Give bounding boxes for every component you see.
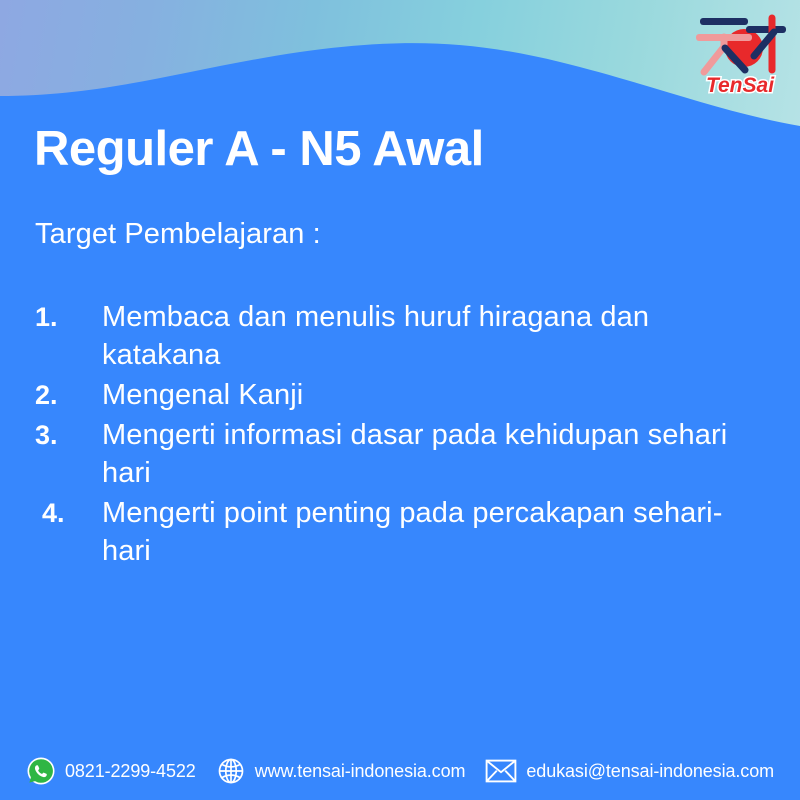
- contact-value: 0821-2299-4522: [65, 761, 196, 782]
- list-item-text: Mengerti informasi dasar pada kehidupan …: [102, 416, 750, 492]
- list-item-text: Mengenal Kanji: [102, 376, 750, 414]
- contact-email[interactable]: edukasi@tensai-indonesia.com: [485, 758, 774, 784]
- globe-icon: [216, 756, 246, 786]
- list-item-text: Mengerti point penting pada percakapan s…: [102, 494, 750, 570]
- poster-canvas: TenSai Reguler A - N5 Awal Target Pembel…: [0, 0, 800, 800]
- page-subtitle: Target Pembelajaran :: [35, 218, 321, 251]
- contact-value: www.tensai-indonesia.com: [255, 761, 466, 782]
- whatsapp-icon: [26, 756, 56, 786]
- logo-wordmark: TenSai: [706, 74, 775, 97]
- learning-goals-list: 1. Membaca dan menulis huruf hiragana da…: [30, 298, 750, 572]
- list-item-text: Membaca dan menulis huruf hiragana dan k…: [102, 298, 750, 374]
- contact-website[interactable]: www.tensai-indonesia.com: [216, 756, 466, 786]
- envelope-icon: [485, 758, 517, 784]
- contact-value: edukasi@tensai-indonesia.com: [526, 761, 774, 782]
- list-item-number: 4.: [30, 494, 102, 532]
- footer-contact-bar: 0821-2299-4522 www.tensai-indonesia.com: [0, 742, 800, 800]
- list-item: 2. Mengenal Kanji: [30, 376, 750, 414]
- page-title: Reguler A - N5 Awal: [34, 124, 484, 175]
- tensai-logo: TenSai: [688, 4, 792, 102]
- contact-whatsapp[interactable]: 0821-2299-4522: [26, 756, 196, 786]
- list-item: 4. Mengerti point penting pada percakapa…: [30, 494, 750, 570]
- list-item: 1. Membaca dan menulis huruf hiragana da…: [30, 298, 750, 374]
- list-item-number: 3.: [30, 416, 102, 454]
- list-item: 3. Mengerti informasi dasar pada kehidup…: [30, 416, 750, 492]
- list-item-number: 2.: [30, 376, 102, 414]
- list-item-number: 1.: [30, 298, 102, 336]
